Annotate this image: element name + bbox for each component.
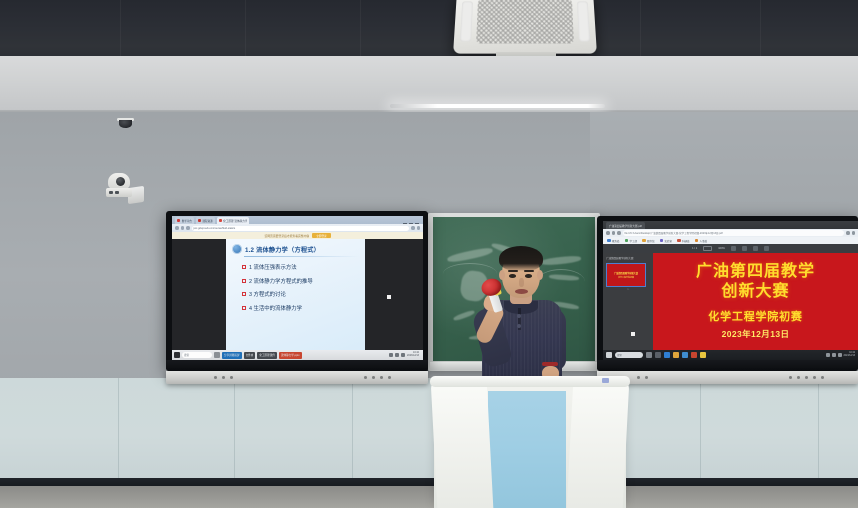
address-bar[interactable]: jwc.gdupt.edu.cn/course/fluid-statics — [192, 226, 410, 231]
stage-letterbox-left — [172, 239, 226, 350]
right-screen[interactable]: 广油第四届教学创新大赛.pdf file:///C:/Users/Desktop… — [603, 221, 858, 360]
system-tray[interactable]: 10:42 2023/12/13 — [389, 352, 421, 358]
ac-grille — [476, 0, 574, 44]
presenter-hair — [499, 246, 543, 271]
linear-light-fixture-icon — [390, 104, 605, 108]
bullet-square-icon — [242, 306, 246, 310]
interactive-flat-panel-right[interactable]: 广油第四届教学创新大赛.pdf file:///C:/Users/Desktop… — [597, 216, 858, 371]
right-browser-tabstrip: 广油第四届教学创新大赛.pdf — [603, 221, 858, 229]
network-icon[interactable] — [826, 353, 830, 357]
list-item-label: 2 流体静力学方程式的推导 — [249, 277, 313, 285]
slide-bullet-list: 1 流体压强表示方法 2 流体静力学方程式的推导 3 方程式的讨论 — [242, 263, 359, 312]
tab-favicon-icon — [198, 219, 201, 222]
left-panel-bezel — [166, 360, 428, 371]
login-notice-bar: 该网页需要登录后才能查看完整内容 立即登录 — [172, 232, 423, 239]
thumbnail-line-1: 广油第四届教学创新大赛 — [614, 271, 638, 275]
pdf-thumbnail-panel[interactable]: 广油第四届教学创新大赛 广油第四届教学创新大赛 化学工程学院初赛 1 — [603, 253, 653, 350]
ac-vane-right — [577, 1, 590, 41]
presentation-slide: 1.2 流体静力学（方程式） 1 流体压强表示方法 2 流体静力学方程式的推导 — [226, 239, 365, 350]
bullet-square-icon — [242, 265, 246, 269]
volume-icon[interactable] — [395, 353, 399, 357]
stage-marker — [631, 332, 635, 336]
login-button[interactable]: 立即登录 — [312, 233, 330, 238]
podium-wing-right — [567, 381, 630, 508]
bookmark-favicon-icon — [695, 239, 699, 243]
browser-tab-active[interactable]: 广油第四届教学创新大赛.pdf — [606, 222, 645, 229]
taskbar-window[interactable]: 分享屏幕投屏 — [222, 352, 242, 359]
slide-badge-icon — [232, 244, 242, 254]
slide-stage: 1.2 流体静力学（方程式） 1 流体压强表示方法 2 流体静力学方程式的推导 — [172, 239, 423, 350]
presenter-nose — [519, 278, 524, 287]
taskbar-window[interactable]: 文件夹 — [244, 352, 256, 359]
pdf-body: 广油第四届教学创新大赛 广油第四届教学创新大赛 化学工程学院初赛 1 广油第四届… — [603, 253, 858, 350]
notice-text: 该网页需要登录后才能查看完整内容 — [264, 234, 309, 238]
tab-label: 课程资源 — [202, 219, 212, 223]
pdf-fit-page-icon[interactable] — [731, 246, 736, 251]
left-browser-window: 教学平台 课程资源 化工原理 流体静力学 — [172, 216, 423, 360]
back-icon[interactable] — [606, 231, 610, 235]
tab-label: 化工原理 流体静力学 — [223, 219, 247, 223]
pdf-print-icon[interactable] — [764, 246, 769, 251]
battery-icon[interactable] — [838, 353, 842, 357]
bookmark-label: 人事处 — [700, 239, 708, 243]
folder-icon[interactable] — [673, 352, 679, 358]
bookmark-label: 图书馆 — [647, 239, 655, 243]
pdf-download-icon[interactable] — [753, 246, 758, 251]
taskbar-window[interactable]: 化工原理课件 — [257, 352, 277, 359]
start-button-icon[interactable] — [174, 352, 180, 358]
bookmark-label: 科研处 — [682, 239, 690, 243]
reload-icon[interactable] — [186, 226, 190, 230]
taskbar-window-label: 文件夹 — [246, 353, 254, 357]
list-item: 1 流体压强表示方法 — [242, 263, 359, 271]
bullet-square-icon — [242, 292, 246, 296]
bookmark-item[interactable]: 实验室 — [660, 239, 673, 243]
tab-favicon-icon — [219, 219, 222, 222]
bookmark-star-icon[interactable] — [411, 226, 415, 230]
back-icon[interactable] — [175, 226, 179, 230]
pdf-page-thumbnail[interactable]: 广油第四届教学创新大赛 化学工程学院初赛 — [606, 263, 646, 287]
left-screen[interactable]: 教学平台 课程资源 化工原理 流体静力学 — [172, 216, 423, 360]
file-explorer-icon[interactable] — [664, 352, 670, 358]
stage-letterbox-right — [365, 239, 423, 350]
presenter-button-top — [517, 314, 521, 318]
clock-date: 2023/12/13 — [407, 354, 419, 357]
taskbar-clock[interactable]: 10:42 2023/12/13 — [407, 352, 419, 358]
tab-label: 广油第四届教学创新大赛.pdf — [609, 224, 642, 228]
bookmark-item[interactable]: 教务处 — [607, 239, 620, 243]
browser-icon[interactable] — [682, 352, 688, 358]
bookmark-favicon-icon — [625, 239, 629, 243]
slide-title: 1.2 流体静力学（方程式） — [245, 245, 320, 254]
left-panel-tray — [166, 371, 428, 384]
stage-marker — [387, 295, 391, 299]
pdf-document-title: 广油第四届教学创新大赛 — [606, 256, 650, 260]
ceiling-cassette-ac-icon — [453, 0, 597, 54]
start-button-icon[interactable] — [606, 352, 612, 358]
left-taskbar: 搜索 分享屏幕投屏 文件夹 化工原理课件 流体静力学.pptx — [172, 350, 423, 360]
bullet-square-icon — [242, 279, 246, 283]
list-item-label: 1 流体压强表示方法 — [249, 263, 297, 271]
banner-line-1: 广油第四届教学 — [696, 263, 815, 280]
tab-favicon-icon — [177, 219, 180, 222]
dome-camera-icon — [119, 120, 132, 128]
profile-icon[interactable] — [852, 231, 856, 235]
tab-label: 教学平台 — [182, 219, 192, 223]
reload-icon[interactable] — [617, 231, 621, 235]
slide-title-row: 1.2 流体静力学（方程式） — [232, 244, 359, 254]
taskbar-window[interactable]: 流体静力学.pptx — [279, 352, 302, 359]
right-panel-bezel — [597, 360, 858, 371]
system-tray[interactable]: 10:42 2023/12/13 — [826, 352, 856, 357]
task-view-icon[interactable] — [214, 352, 220, 358]
taskbar-search-input[interactable]: 搜索 — [615, 352, 643, 358]
slide-title-rule — [244, 256, 359, 257]
battery-icon[interactable] — [401, 353, 405, 357]
browser-tab[interactable]: 教学平台 — [175, 217, 194, 224]
pdf-zoom-level: 100% — [718, 247, 725, 250]
podium-item — [602, 378, 609, 383]
bookmark-item[interactable]: 人事处 — [695, 239, 708, 243]
ptz-camera-icon — [106, 173, 144, 205]
demo-object-cap — [479, 276, 503, 298]
presenter-eye-left — [509, 274, 516, 278]
pdf-rotate-icon[interactable] — [742, 246, 747, 251]
left-browser-urlbar: jwc.gdupt.edu.cn/course/fluid-statics — [172, 224, 423, 232]
task-view-icon[interactable] — [646, 352, 652, 358]
bookmark-star-icon[interactable] — [846, 231, 850, 235]
floor — [0, 486, 858, 508]
media-app-icon[interactable] — [700, 352, 706, 358]
taskbar-search-input[interactable]: 搜索 — [182, 352, 212, 358]
list-item: 2 流体静力学方程式的推导 — [242, 277, 359, 285]
ac-vane-left — [460, 1, 473, 41]
taskbar-window-label: 分享屏幕投屏 — [224, 353, 240, 357]
left-browser-tabstrip: 教学平台 课程资源 化工原理 流体静力学 — [172, 216, 423, 224]
right-browser-urlbar: file:///C:/Users/Desktop/广油第四届教学创新大赛-化学工… — [603, 229, 858, 237]
banner-date: 2023年12月13日 — [722, 328, 790, 340]
bookmark-label: 教务处 — [612, 239, 620, 243]
taskbar-window-label: 化工原理课件 — [259, 353, 275, 357]
banner-line-3: 化学工程学院初赛 — [708, 308, 802, 324]
ceiling — [0, 0, 858, 62]
volume-icon[interactable] — [832, 353, 836, 357]
forward-icon[interactable] — [612, 231, 616, 235]
right-browser-window: 广油第四届教学创新大赛.pdf file:///C:/Users/Desktop… — [603, 221, 858, 360]
browser-tab[interactable]: 课程资源 — [196, 217, 215, 224]
lower-wall-panels — [0, 378, 858, 484]
pdf-page-indicator: 1 / 1 — [692, 247, 697, 250]
pdf-app-icon[interactable] — [691, 352, 697, 358]
bookmark-favicon-icon — [607, 239, 611, 243]
thumbnail-line-2: 化学工程学院初赛 — [618, 276, 634, 279]
podium-wing-left — [431, 381, 494, 508]
bookmarks-bar: 教务处 学工部 图书馆 实验室 — [603, 237, 858, 244]
right-panel-tray — [597, 371, 858, 384]
network-icon[interactable] — [389, 353, 393, 357]
widgets-icon[interactable] — [655, 352, 661, 358]
camera-head — [108, 173, 130, 189]
presenter-brow-right — [524, 270, 534, 272]
list-item-label: 4 生活中的流体静力学 — [249, 304, 302, 312]
list-item-label: 3 方程式的讨论 — [249, 290, 286, 298]
bookmark-favicon-icon — [660, 239, 664, 243]
banner-line-2: 创新大赛 — [721, 283, 789, 300]
pdf-viewer-toolbar: 1 / 1 100% — [603, 244, 858, 253]
forward-icon[interactable] — [181, 226, 185, 230]
lecturer — [466, 246, 576, 384]
thumbnail-page-number: 1 — [606, 289, 650, 291]
browser-tab-active[interactable]: 化工原理 流体静力学 — [217, 217, 250, 224]
lectern-podium — [434, 381, 626, 508]
taskbar-clock[interactable]: 10:42 2023/12/13 — [844, 352, 856, 357]
bookmark-item[interactable]: 学工部 — [625, 239, 638, 243]
interactive-flat-panel-left[interactable]: 教学平台 课程资源 化工原理 流体静力学 — [166, 211, 428, 371]
bookmark-label: 学工部 — [630, 239, 638, 243]
list-item: 3 方程式的讨论 — [242, 290, 359, 298]
clock-date: 2023/12/13 — [844, 355, 856, 357]
podium-front-panel — [488, 391, 566, 508]
camera-lens-icon — [116, 177, 125, 186]
presenter-button-bottom — [517, 324, 521, 328]
camera-led-b — [115, 191, 119, 194]
bookmark-favicon-icon — [642, 239, 646, 243]
presenter-ear-right — [537, 270, 543, 280]
pdf-zoom-field[interactable] — [703, 246, 712, 251]
bookmark-item[interactable]: 图书馆 — [642, 239, 655, 243]
list-item: 4 生活中的流体静力学 — [242, 304, 359, 312]
presenter-mouth — [515, 289, 528, 294]
presenter-brow-left — [508, 270, 518, 272]
bookmark-label: 实验室 — [665, 239, 673, 243]
presenter-eye-right — [525, 274, 532, 278]
pdf-page-banner: 广油第四届教学 创新大赛 化学工程学院初赛 2023年12月13日 — [653, 253, 858, 350]
bookmark-item[interactable]: 科研处 — [677, 239, 690, 243]
camera-led-a — [109, 191, 113, 194]
bookmark-favicon-icon — [677, 239, 681, 243]
podium-top-surface — [430, 376, 630, 387]
address-bar[interactable]: file:///C:/Users/Desktop/广油第四届教学创新大赛-化学工… — [623, 230, 845, 236]
taskbar-window-label: 流体静力学.pptx — [281, 353, 300, 357]
profile-icon[interactable] — [417, 226, 421, 230]
right-taskbar: 搜索 10:42 2023/12/13 — [603, 350, 858, 360]
classroom-scene: 教学平台 课程资源 化工原理 流体静力学 — [0, 0, 858, 508]
